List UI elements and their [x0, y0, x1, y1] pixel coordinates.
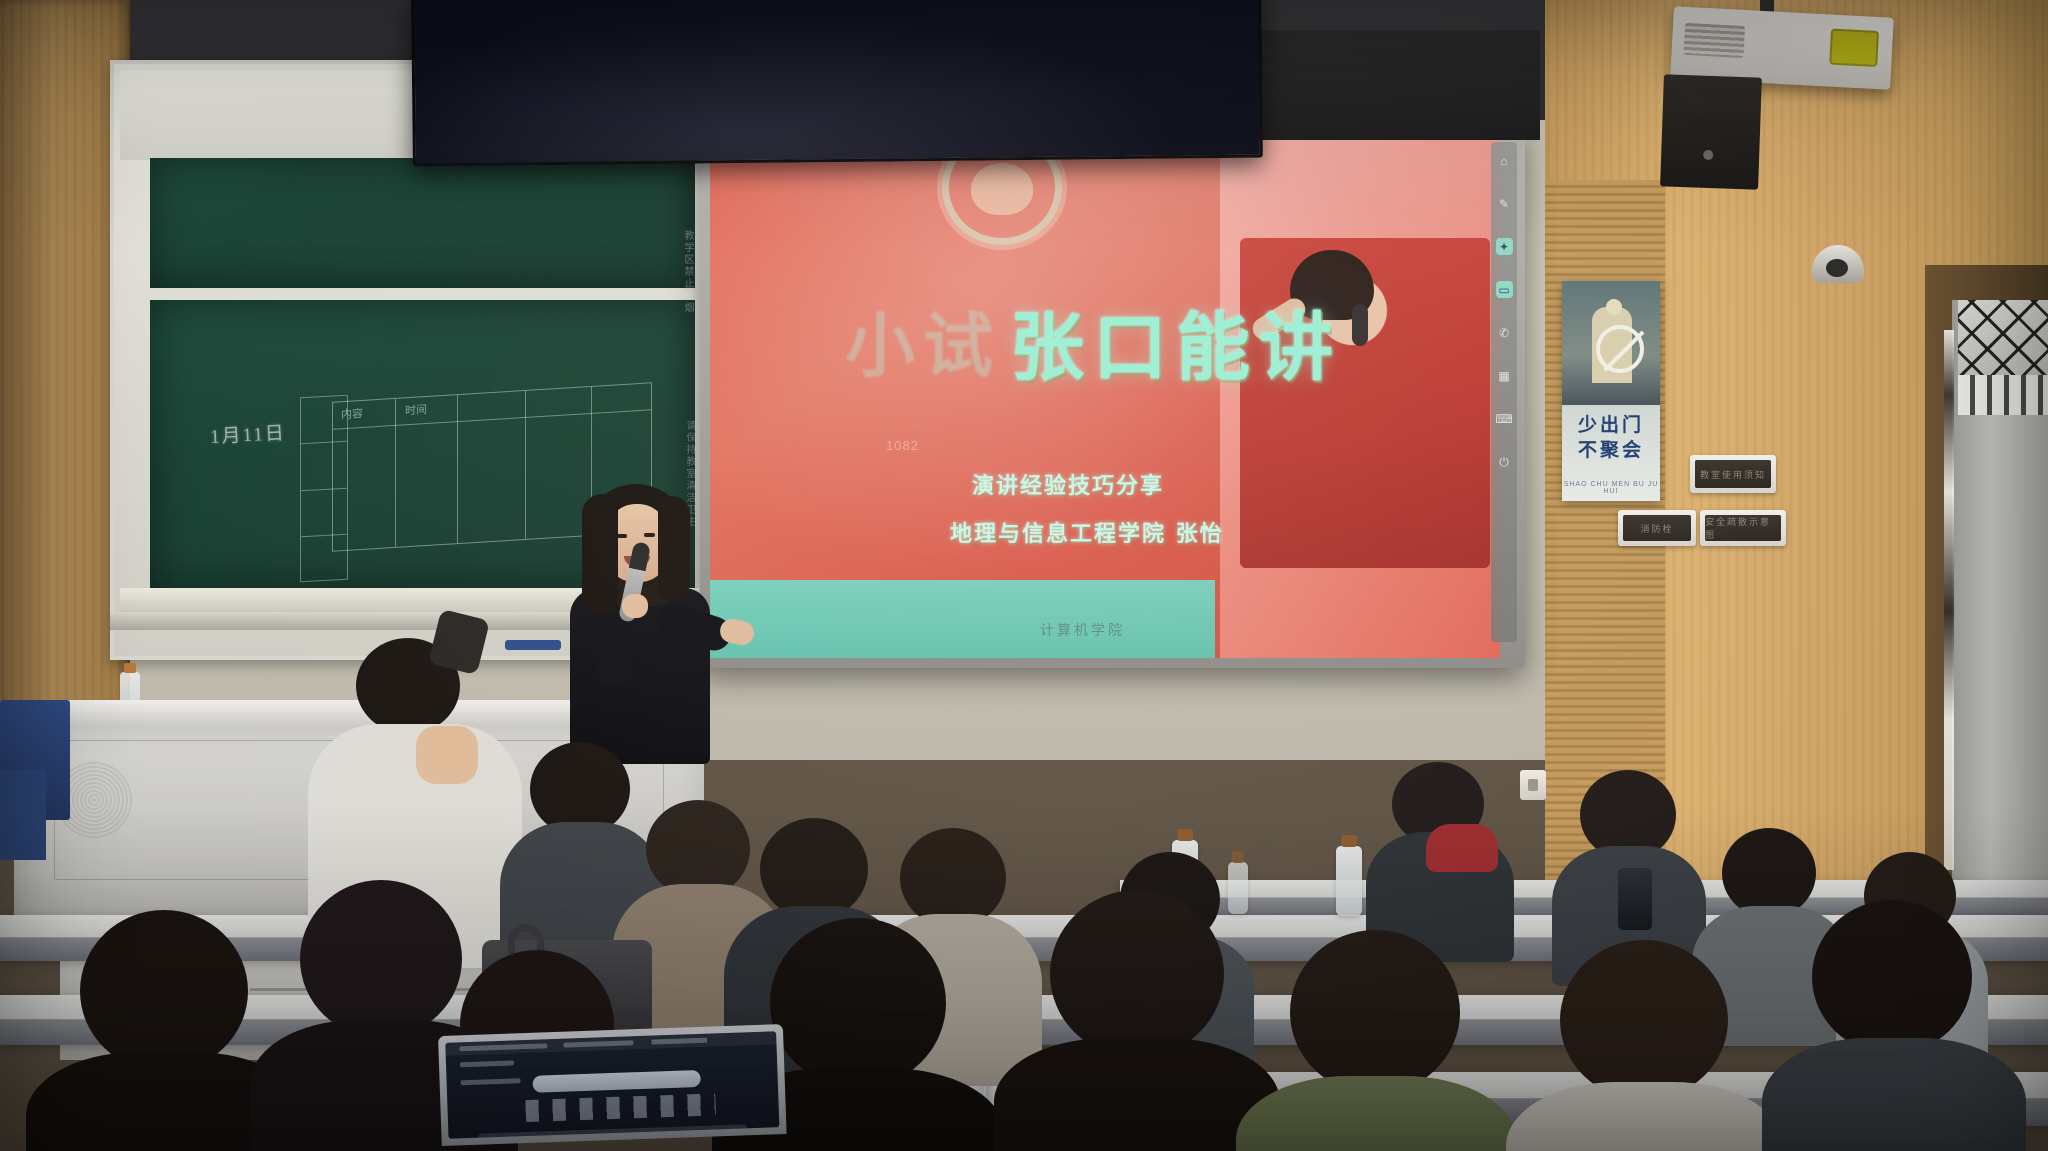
tv-mount	[1230, 30, 1540, 140]
smartphone[interactable]	[1618, 868, 1652, 930]
door-grille-icon	[1958, 300, 2048, 415]
laptop-icon-row[interactable]	[525, 1093, 716, 1122]
presenter-hair-left	[582, 494, 618, 614]
slide-subtitle-2: 地理与信息工程学院 张怡	[950, 516, 1224, 548]
water-bottle[interactable]	[1336, 846, 1362, 916]
classroom-scene: 1月11日 内容 时间 教学区禁止吸烟 请保持教室清洁卫生	[0, 0, 2048, 1151]
keyboard-icon[interactable]: ⌨	[1496, 410, 1513, 427]
power-icon[interactable]: ⏻	[1496, 453, 1513, 470]
no-gathering-icon	[1562, 281, 1660, 405]
water-bottle[interactable]	[1228, 862, 1248, 914]
wall-outlet[interactable]	[1520, 770, 1546, 800]
slide-footer: 计算机学院	[1040, 620, 1125, 640]
chalkboard-panel-upper	[150, 158, 695, 288]
projector-lens-icon	[1829, 29, 1879, 67]
wall-display[interactable]	[411, 0, 1263, 166]
slide-headline-faded: 小试	[845, 290, 1001, 391]
smartboard[interactable]: 小试 张口能讲 1082 演讲经验技巧分享 地理与信息工程学院 张怡 计算机学院…	[700, 128, 1525, 668]
grid-icon[interactable]: ▦	[1496, 367, 1513, 384]
wall-poster: 少出门 不聚会 SHAO CHU MEN BU JU HUI	[1562, 281, 1660, 501]
display-reflection	[414, 0, 1260, 163]
presenter-hand-holding-mic	[622, 594, 648, 618]
photo-microphone	[1352, 304, 1368, 346]
speaker-driver	[1703, 150, 1713, 160]
presenter-hair-right	[658, 496, 690, 601]
home-icon[interactable]: ⌂	[1496, 152, 1513, 169]
laptop-lid	[438, 1024, 787, 1146]
slide-bottom-band	[710, 580, 1215, 658]
board-side-label-1: 教学区禁止吸烟	[680, 230, 695, 314]
chalk-header-0: 内容	[341, 405, 363, 422]
side-chair-back[interactable]	[0, 770, 46, 860]
chalk-header-1: 时间	[405, 401, 427, 418]
smartboard-toolbar[interactable]: ⌂ ✎ ✦ ▭ ✆ ▦ ⌨ ⏻	[1491, 142, 1517, 642]
camera-lens-icon	[1826, 259, 1848, 277]
wall-plate-left: 消防栓	[1618, 510, 1696, 546]
poster-caption: SHAO CHU MEN BU JU HUI	[1562, 481, 1660, 495]
chalk-note: 1月11日	[209, 418, 286, 449]
eraser-icon[interactable]: ▭	[1496, 281, 1513, 298]
slide-seal-inner	[971, 163, 1033, 215]
slide-headline: 张口能讲	[1010, 288, 1342, 395]
laptop-screen[interactable]	[445, 1031, 779, 1138]
smartboard-screen[interactable]: 小试 张口能讲 1082 演讲经验技巧分享 地理与信息工程学院 张怡 计算机学院	[710, 138, 1500, 658]
poster-line-1: 少出门	[1562, 413, 1660, 438]
annotate-icon[interactable]: ✦	[1496, 238, 1513, 255]
presentation-slide: 小试 张口能讲 1082 演讲经验技巧分享 地理与信息工程学院 张怡 计算机学院	[710, 138, 1500, 658]
poster-line-2: 不聚会	[1562, 438, 1660, 463]
laptop-search-field[interactable]	[532, 1070, 700, 1093]
laptop-content-card	[478, 1124, 747, 1138]
wall-plate-notice-text: 教室使用须知	[1695, 460, 1771, 488]
phone-icon[interactable]: ✆	[1496, 324, 1513, 341]
wall-plate-notice: 教室使用须知	[1690, 455, 1776, 493]
projector-vent	[1684, 23, 1746, 58]
slide-code-label: 1082	[886, 438, 919, 453]
presenter-eye-right	[644, 533, 655, 537]
poster-text-block: 少出门 不聚会	[1562, 407, 1660, 463]
door-edge-light	[1944, 330, 1954, 870]
wall-plate-left-text: 消防栓	[1623, 515, 1691, 541]
wall-plate-right-text: 安全疏散示意图	[1705, 515, 1781, 541]
open-laptop[interactable]	[438, 1024, 787, 1151]
presenter	[548, 484, 728, 764]
wall-speaker	[1660, 74, 1762, 189]
slide-subtitle-1: 演讲经验技巧分享	[972, 468, 1164, 500]
wall-plate-right: 安全疏散示意图	[1700, 510, 1786, 546]
pen-icon[interactable]: ✎	[1496, 195, 1513, 212]
